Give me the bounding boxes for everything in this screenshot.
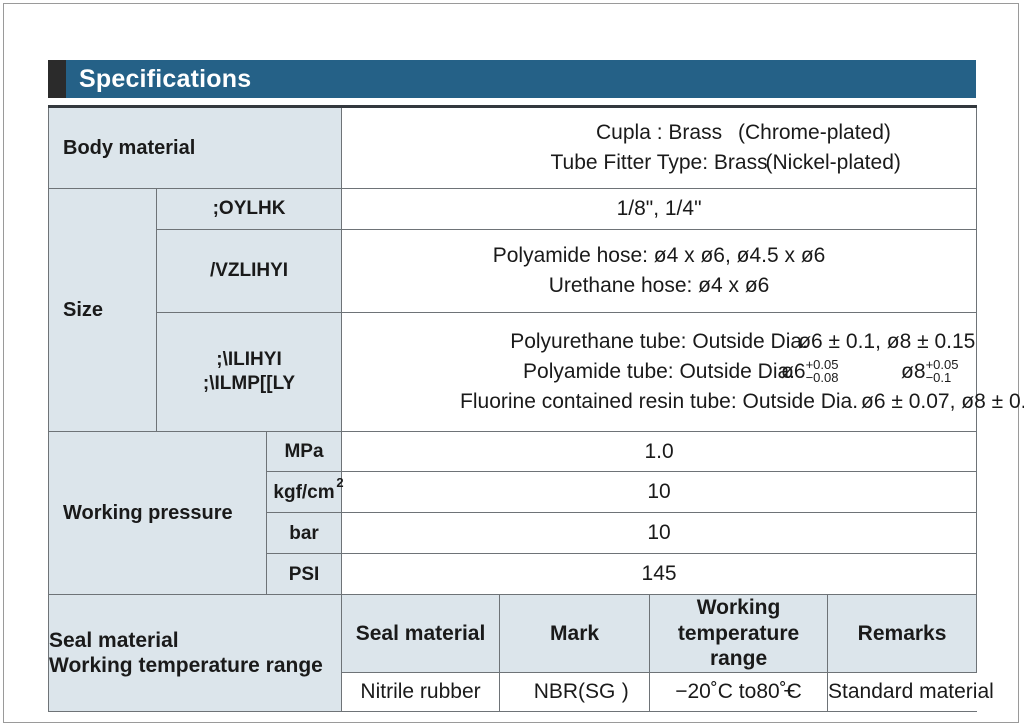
column-header-working-temperature-line-1: Working <box>650 595 827 621</box>
polyamide-d8-value: ø8 <box>901 360 926 383</box>
section-header: Specifications <box>48 60 976 98</box>
cell-seal-material-value: Nitrile rubber <box>342 673 500 712</box>
section-header-accent-block <box>48 60 66 98</box>
row-label-working-temperature-range: Working temperature range <box>49 653 341 679</box>
cell-body-material-value: Cupla : Brass (Chrome-plated) Tube Fitte… <box>342 107 977 189</box>
polyamide-d8-tolerance-plus: +0.05 <box>926 358 959 372</box>
cell-size-thread-value: 1/8", 1/4" <box>342 189 977 230</box>
body-material-cupla: Cupla : Brass <box>596 121 722 144</box>
row-label-seal-material: Seal material <box>49 628 341 654</box>
pressure-unit-kgf-superscript: 2 <box>336 475 343 491</box>
column-header-remarks: Remarks <box>828 595 977 673</box>
row-label-size: Size <box>49 189 157 432</box>
page-frame: Specifications Body material Cupla : Bra… <box>3 3 1019 723</box>
sublabel-size-hose: /VZLIHYI <box>157 229 342 312</box>
polyamide-d8-tolerance: +0.05−0.1 <box>926 358 959 385</box>
cell-remarks-value: Standard material <box>828 673 977 712</box>
row-label-working-pressure: Working pressure <box>49 431 267 595</box>
overlap-group-polyamide: Polyamide tube: Outside Dia. ø6+0.05−0.0… <box>523 357 795 387</box>
cell-size-hose-value: Polyamide hose: ø4 x ø6, ø4.5 x ø6 Ureth… <box>342 229 977 312</box>
pressure-unit-mpa: MPa <box>284 441 323 462</box>
size-tube-fluorine: Fluorine contained resin tube: Outside D… <box>346 387 972 417</box>
cell-mark-value: NBR(SG ) <box>500 673 650 712</box>
page-title: Specifications <box>79 67 251 92</box>
body-material-line-2: Tube Fitter Type: Brass (Nickel-plated) <box>346 148 972 178</box>
sublabel-size-tube-line-1: ;\ILIHYI <box>157 348 341 371</box>
polyamide-d6-tolerance: +0.05−0.08 <box>806 358 839 385</box>
polyamide-d8-tolerance-minus: −0.1 <box>926 371 959 385</box>
sublabel-size-thread: ;OYLHK <box>157 189 342 230</box>
table-row-seal-headers: Seal material Working temperature range … <box>49 595 977 673</box>
specifications-table: Body material Cupla : Brass (Chrome-plat… <box>48 105 977 712</box>
cell-pressure-psi-value: 145 <box>342 554 977 595</box>
sublabel-size-tube: ;\ILIHYI ;\ILMP[[LY <box>157 312 342 431</box>
column-header-working-temperature-range: Working temperature range <box>650 595 828 673</box>
row-label-seal-and-temperature: Seal material Working temperature range <box>49 595 342 712</box>
table-row-size-tube: ;\ILIHYI ;\ILMP[[LY Polyurethane tube: O… <box>49 312 977 431</box>
sublabel-pressure-bar: bar <box>267 513 342 554</box>
polyurethane-tube-label: Polyurethane tube: Outside Dia. <box>510 330 808 353</box>
cell-pressure-kgf-value: 10 <box>342 472 977 513</box>
cell-working-temperature-value: −20˚C to80˚C + <box>650 673 828 712</box>
overlap-group-mark: NBR(SG ) <box>534 679 616 705</box>
section-header-bar: Specifications <box>66 60 976 98</box>
sublabel-pressure-psi: PSI <box>267 554 342 595</box>
column-header-seal-material: Seal material <box>342 595 500 673</box>
body-material-tube-fitter-plating: (Nickel-plated) <box>766 148 901 178</box>
size-tube-polyamide: Polyamide tube: Outside Dia. ø6+0.05−0.0… <box>346 357 972 387</box>
column-header-working-temperature-line-2: temperature range <box>650 621 827 672</box>
cell-pressure-mpa-value: 1.0 <box>342 431 977 472</box>
size-hose-line-1: Polyamide hose: ø4 x ø6, ø4.5 x ø6 <box>346 241 972 271</box>
body-material-tube-fitter: Tube Fitter Type: Brass <box>551 151 768 174</box>
polyamide-tube-label: Polyamide tube: Outside Dia. <box>523 360 795 383</box>
cell-pressure-bar-value: 10 <box>342 513 977 554</box>
overlap-group-temperature: −20˚C to80˚C + <box>675 679 802 705</box>
pressure-unit-kgf: kgf/cm <box>273 482 334 503</box>
column-header-mark: Mark <box>500 595 650 673</box>
cell-size-tube-value: Polyurethane tube: Outside Dia. ø6 ± 0.1… <box>342 312 977 431</box>
mark-value-base: NBR(SG <box>534 680 616 703</box>
size-tube-polyurethane: Polyurethane tube: Outside Dia. ø6 ± 0.1… <box>346 327 972 357</box>
fluorine-tube-dims: ø6 ± 0.07, ø8 ± 0.07 <box>861 387 1024 417</box>
temperature-range-plus-sign: + <box>783 679 795 705</box>
polyamide-tube-dim-d6: ø6+0.05−0.08 <box>781 357 838 387</box>
overlap-group-polyurethane: Polyurethane tube: Outside Dia. ø6 ± 0.1… <box>510 327 808 357</box>
polyamide-d6-tolerance-plus: +0.05 <box>806 358 839 372</box>
overlap-group-tube-fitter: Tube Fitter Type: Brass (Nickel-plated) <box>551 148 768 178</box>
row-label-body-material: Body material <box>49 107 342 189</box>
fluorine-tube-label: Fluorine contained resin tube: Outside D… <box>460 390 858 413</box>
table-row-size-thread: Size ;OYLHK 1/8", 1/4" <box>49 189 977 230</box>
table-row-pressure-mpa: Working pressure MPa 1.0 <box>49 431 977 472</box>
overlap-group-cupla: Cupla : Brass (Chrome-plated) <box>596 118 722 148</box>
polyamide-tube-dim-d8: ø8+0.05−0.1 <box>901 357 958 387</box>
sublabel-size-tube-line-2: ;\ILMP[[LY <box>157 372 341 395</box>
overlap-group-fluorine: Fluorine contained resin tube: Outside D… <box>460 387 858 417</box>
body-material-line-1: Cupla : Brass (Chrome-plated) <box>346 118 972 148</box>
polyurethane-tube-dims: ø6 ± 0.1, ø8 ± 0.15 <box>798 327 975 357</box>
overlap-group-kgf: kgf/cm 2 <box>273 481 334 504</box>
table-row-body-material: Body material Cupla : Brass (Chrome-plat… <box>49 107 977 189</box>
body-material-cupla-plating: (Chrome-plated) <box>738 118 891 148</box>
polyamide-d6-value: ø6 <box>781 360 806 383</box>
sublabel-pressure-kgf: kgf/cm 2 <box>267 472 342 513</box>
size-hose-line-2: Urethane hose: ø4 x ø6 <box>346 271 972 301</box>
sublabel-pressure-mpa: MPa <box>267 431 342 472</box>
remarks-value-text: Standard material <box>828 679 994 705</box>
mark-value-close-paren: ) <box>622 679 629 705</box>
polyamide-d6-tolerance-minus: −0.08 <box>806 371 839 385</box>
table-row-size-hose: /VZLIHYI Polyamide hose: ø4 x ø6, ø4.5 x… <box>49 229 977 312</box>
temperature-range-low: −20˚C to <box>675 680 756 703</box>
